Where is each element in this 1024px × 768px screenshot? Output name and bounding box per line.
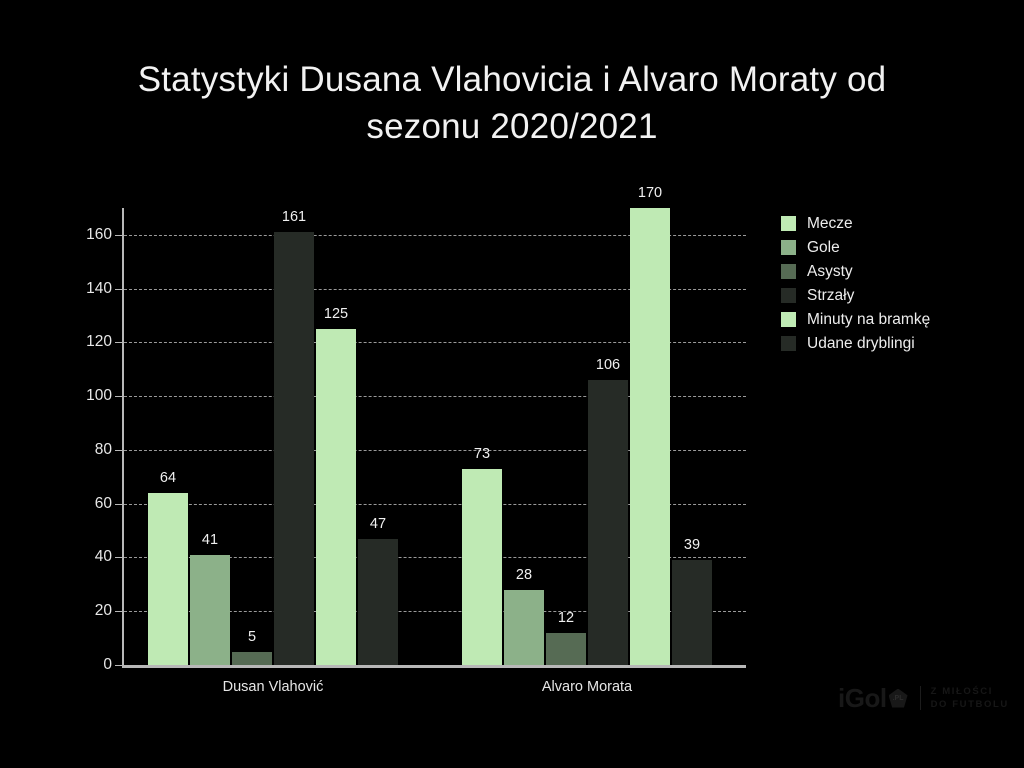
category-label: Dusan Vlahović [163, 679, 383, 695]
bar [316, 329, 356, 665]
plot-area: 647341285121611061251704739 [122, 208, 746, 665]
legend-item-1[interactable]: Gole [781, 235, 1011, 259]
bar-value-label: 47 [346, 517, 410, 532]
bar-value-label: 161 [262, 210, 326, 225]
legend-swatch-icon [781, 288, 796, 303]
bar-value-label: 73 [450, 447, 514, 462]
y-axis-tick [115, 611, 122, 612]
legend-swatch-icon [781, 312, 796, 327]
legend-label: Udane dryblingi [807, 335, 915, 352]
chart-canvas: Statystyki Dusana Vlahovicia i Alvaro Mo… [0, 0, 1024, 768]
chart-title: Statystyki Dusana Vlahovicia i Alvaro Mo… [0, 56, 1024, 150]
y-axis-tick [115, 235, 122, 236]
y-axis-tick [115, 504, 122, 505]
y-axis-tick [115, 665, 122, 666]
y-axis-tick [115, 450, 122, 451]
legend-swatch-icon [781, 264, 796, 279]
bar-value-label: 170 [618, 186, 682, 201]
y-tick-label: 160 [86, 227, 112, 243]
legend-swatch-icon [781, 336, 796, 351]
legend-label: Asysty [807, 263, 853, 280]
bar-value-label: 39 [660, 538, 724, 553]
y-tick-label: 120 [86, 334, 112, 350]
x-axis-line [122, 665, 746, 668]
y-axis-tick [115, 396, 122, 397]
legend-item-2[interactable]: Asysty [781, 259, 1011, 283]
watermark-divider [920, 686, 921, 710]
legend-label: Strzały [807, 287, 854, 304]
watermark-logo: iGol .PL Z MIŁOŚCI DO FUTBOLU [838, 681, 1009, 715]
y-axis-tick [115, 342, 122, 343]
bar [148, 493, 188, 665]
legend-swatch-icon [781, 216, 796, 231]
legend-item-5[interactable]: Udane dryblingi [781, 331, 1011, 355]
bar [672, 560, 712, 665]
legend-item-3[interactable]: Strzały [781, 283, 1011, 307]
y-tick-label: 60 [95, 496, 112, 512]
bar [358, 539, 398, 665]
bar [504, 590, 544, 665]
bar [546, 633, 586, 665]
y-tick-label: 20 [95, 603, 112, 619]
watermark-tagline: Z MIŁOŚCI DO FUTBOLU [931, 685, 1009, 711]
bar [190, 555, 230, 665]
chart-legend: MeczeGoleAsystyStrzałyMinuty na bramkęUd… [781, 211, 1011, 355]
y-axis-line [122, 208, 124, 665]
legend-label: Mecze [807, 215, 853, 232]
y-tick-label: 100 [86, 388, 112, 404]
y-tick-label: 0 [103, 657, 112, 673]
watermark-badge-icon: .PL [889, 689, 908, 708]
legend-label: Gole [807, 239, 840, 256]
legend-label: Minuty na bramkę [807, 311, 930, 328]
bar [232, 652, 272, 665]
y-axis-tick [115, 557, 122, 558]
y-axis-tick-labels: 020406080100120140160 [58, 208, 112, 665]
bar [630, 208, 670, 665]
bar [274, 232, 314, 665]
y-tick-label: 40 [95, 549, 112, 565]
watermark-brand: iGol [838, 685, 887, 711]
legend-item-0[interactable]: Mecze [781, 211, 1011, 235]
bar-value-label: 64 [136, 471, 200, 486]
bar-value-label: 41 [178, 533, 242, 548]
y-tick-label: 80 [95, 442, 112, 458]
y-tick-label: 140 [86, 281, 112, 297]
bar [588, 380, 628, 665]
legend-item-4[interactable]: Minuty na bramkę [781, 307, 1011, 331]
bar-value-label: 125 [304, 307, 368, 322]
y-axis-tick [115, 289, 122, 290]
watermark-badge-text: .PL [893, 695, 904, 702]
bar-value-label: 28 [492, 568, 556, 583]
legend-swatch-icon [781, 240, 796, 255]
category-label: Alvaro Morata [477, 679, 697, 695]
